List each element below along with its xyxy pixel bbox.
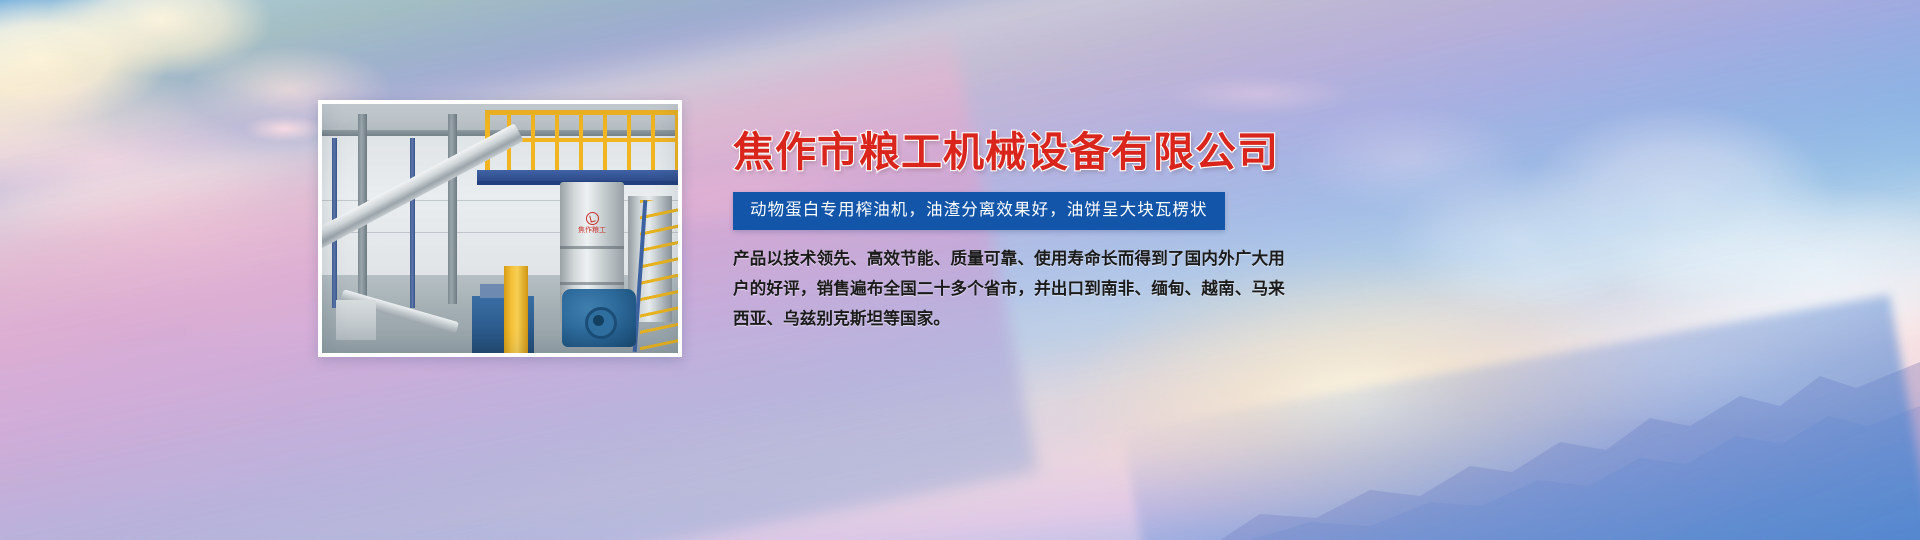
product-photo: 焦作粮工 [322,104,678,353]
company-title: 焦作市粮工机械设备有限公司 [733,130,1333,176]
company-description: 产品以技术领先、高效节能、质量可靠、使用寿命长而得到了国内外广大用户的好评，销售… [733,244,1285,334]
product-slogan-bar: 动物蛋白专用榨油机，油渣分离效果好，油饼呈大块瓦楞状 [733,192,1225,230]
photo-vignette [322,104,678,353]
company-hero-banner: 焦作粮工 焦作市粮工机械设备有限公司 动物蛋白专用榨油机，油渣分离效果好，油饼呈… [0,0,1920,540]
product-photo-frame[interactable]: 焦作粮工 [318,100,682,357]
banner-text-block: 焦作市粮工机械设备有限公司 动物蛋白专用榨油机，油渣分离效果好，油饼呈大块瓦楞状… [733,130,1333,334]
